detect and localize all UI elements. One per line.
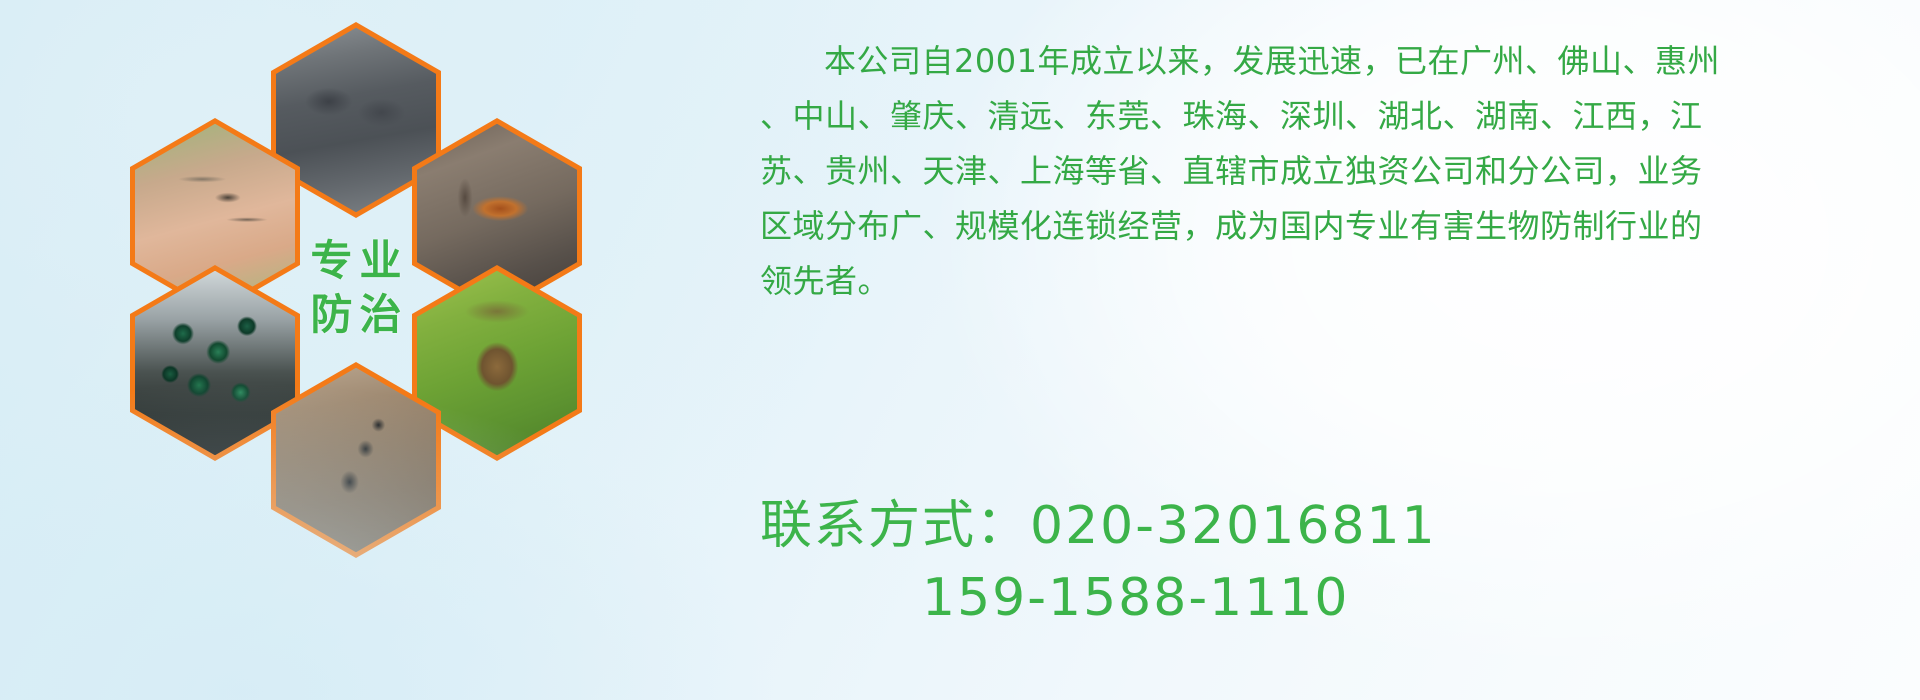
description-line-3: 苏、贵州、天津、上海等省、直辖市成立独资公司和分公司，业务: [760, 144, 1870, 199]
description-line-1: 本公司自2001年成立以来，发展迅速，已在广州、佛山、惠州: [760, 34, 1870, 89]
stinkbug-photo: [417, 271, 577, 455]
company-description: 本公司自2001年成立以来，发展迅速，已在广州、佛山、惠州 、中山、肇庆、清远、…: [760, 34, 1870, 309]
promo-banner: 专业 防治 本公司自2001年成立以来，发展迅速，已在广州、佛山、惠州 、中山、…: [0, 0, 1920, 700]
description-line-4: 区域分布广、规模化连锁经营，成为国内专业有害生物防制行业的: [760, 199, 1870, 254]
ant-photo: [276, 368, 436, 552]
contact-phone-primary[interactable]: 联系方式：020-32016811: [760, 490, 1880, 562]
contact-phone-secondary[interactable]: 159-1588-1110: [760, 562, 1880, 634]
description-line-5: 领先者。: [760, 254, 1870, 309]
center-slogan-line-1: 专业: [303, 239, 408, 283]
contact-block: 联系方式：020-32016811 159-1588-1110: [760, 490, 1880, 634]
honeycomb-collage: 专业 防治: [95, 10, 695, 590]
center-slogan-line-2: 防治: [303, 293, 408, 337]
hex-inner-ant: [276, 368, 436, 552]
hex-inner-stinkbug: [417, 271, 577, 455]
description-line-2: 、中山、肇庆、清远、东莞、珠海、深圳、湖北、湖南、江西，江: [760, 89, 1870, 144]
